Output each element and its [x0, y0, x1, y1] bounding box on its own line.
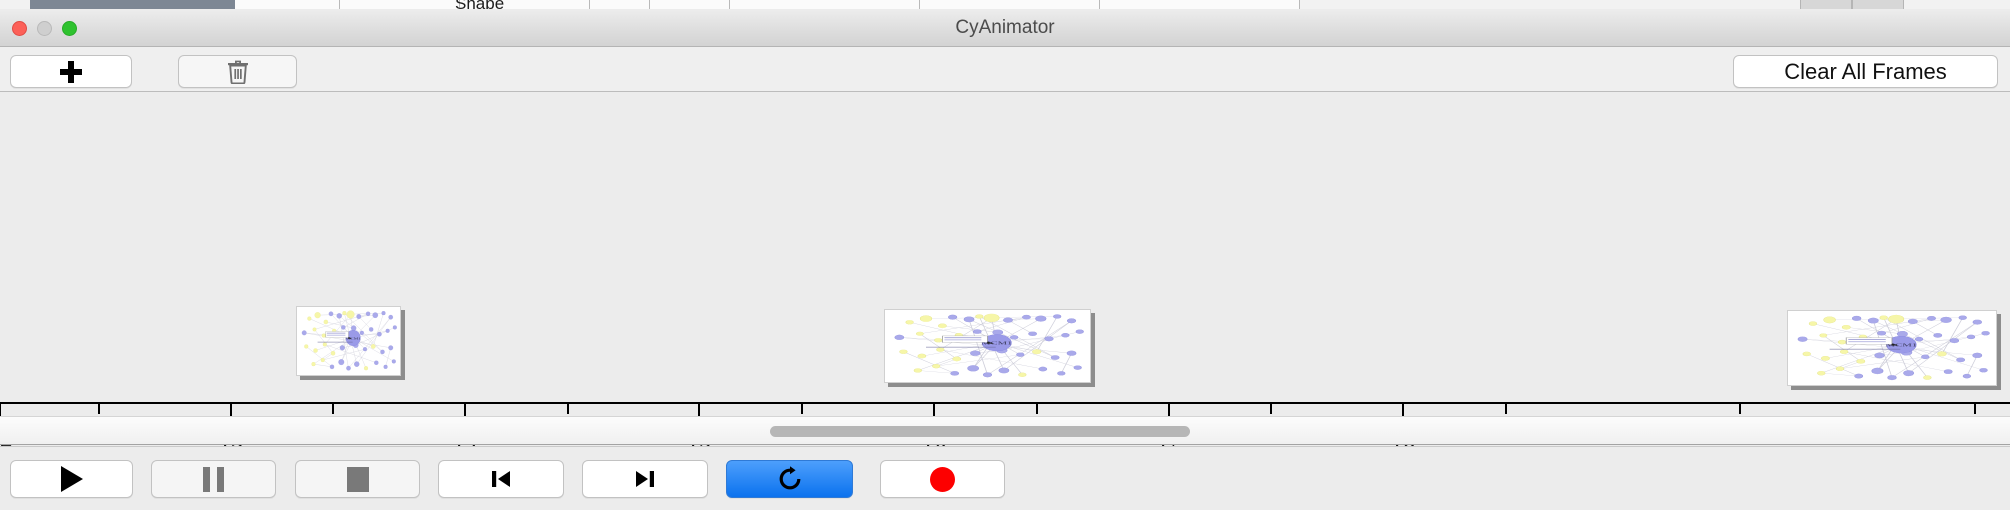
skip-to-end-icon [632, 466, 658, 492]
loop-icon [776, 465, 804, 493]
playback-controls-bar: Animation Speed: [0, 446, 2010, 510]
axis-tick-minor [1505, 403, 1507, 414]
frame-thumbnail[interactable]: MCM1 [884, 309, 1091, 383]
timeline-scrollbar[interactable] [0, 416, 2010, 445]
network-preview: MCM1 [1787, 310, 1997, 386]
background-selected-row [30, 0, 235, 9]
axis-tick-minor [98, 403, 100, 414]
clear-all-frames-button[interactable]: Clear All Frames [1733, 55, 1998, 88]
title-bar: CyAnimator [0, 9, 2010, 47]
record-button[interactable] [880, 460, 1005, 498]
add-frame-button[interactable] [10, 55, 132, 88]
axis-tick-minor [1270, 403, 1272, 414]
frame-thumbnail[interactable]: MCM1 [296, 306, 401, 376]
axis-tick-minor [332, 403, 334, 414]
stop-button[interactable] [295, 460, 420, 498]
plus-icon [60, 61, 82, 83]
timeline-panel[interactable]: MCM1MCM1MCM1 12131415161718 Seconds [0, 92, 2010, 416]
skip-to-start-button[interactable] [438, 460, 564, 498]
loop-button[interactable] [726, 460, 853, 498]
delete-frame-button[interactable] [178, 55, 297, 88]
play-button[interactable] [10, 460, 133, 498]
axis-tick-minor [567, 403, 569, 414]
frame-toolbar: Clear All Frames [0, 47, 2010, 92]
frame-thumbnail[interactable]: MCM1 [1787, 310, 1997, 386]
axis-tick-minor [801, 403, 803, 414]
pause-button[interactable] [151, 460, 276, 498]
trash-icon [227, 59, 249, 84]
background-app-strip: Shape [0, 0, 2010, 9]
background-app-text: Shape [455, 0, 504, 9]
timeline-axis-line [0, 402, 2010, 404]
cyanimator-window: Shape CyAnimator Clear All Frames [0, 0, 2010, 510]
axis-tick-minor [1036, 403, 1038, 414]
network-preview: MCM1 [884, 309, 1091, 383]
play-icon [61, 466, 83, 492]
network-preview: MCM1 [296, 306, 401, 376]
stop-icon [347, 467, 369, 492]
axis-tick-minor [1974, 403, 1976, 414]
window-title: CyAnimator [0, 9, 2010, 47]
pause-icon [203, 467, 224, 492]
record-icon [930, 467, 955, 492]
axis-tick-minor [1739, 403, 1741, 414]
skip-to-start-icon [488, 466, 514, 492]
skip-to-end-button[interactable] [582, 460, 708, 498]
scrollbar-thumb[interactable] [770, 426, 1190, 437]
